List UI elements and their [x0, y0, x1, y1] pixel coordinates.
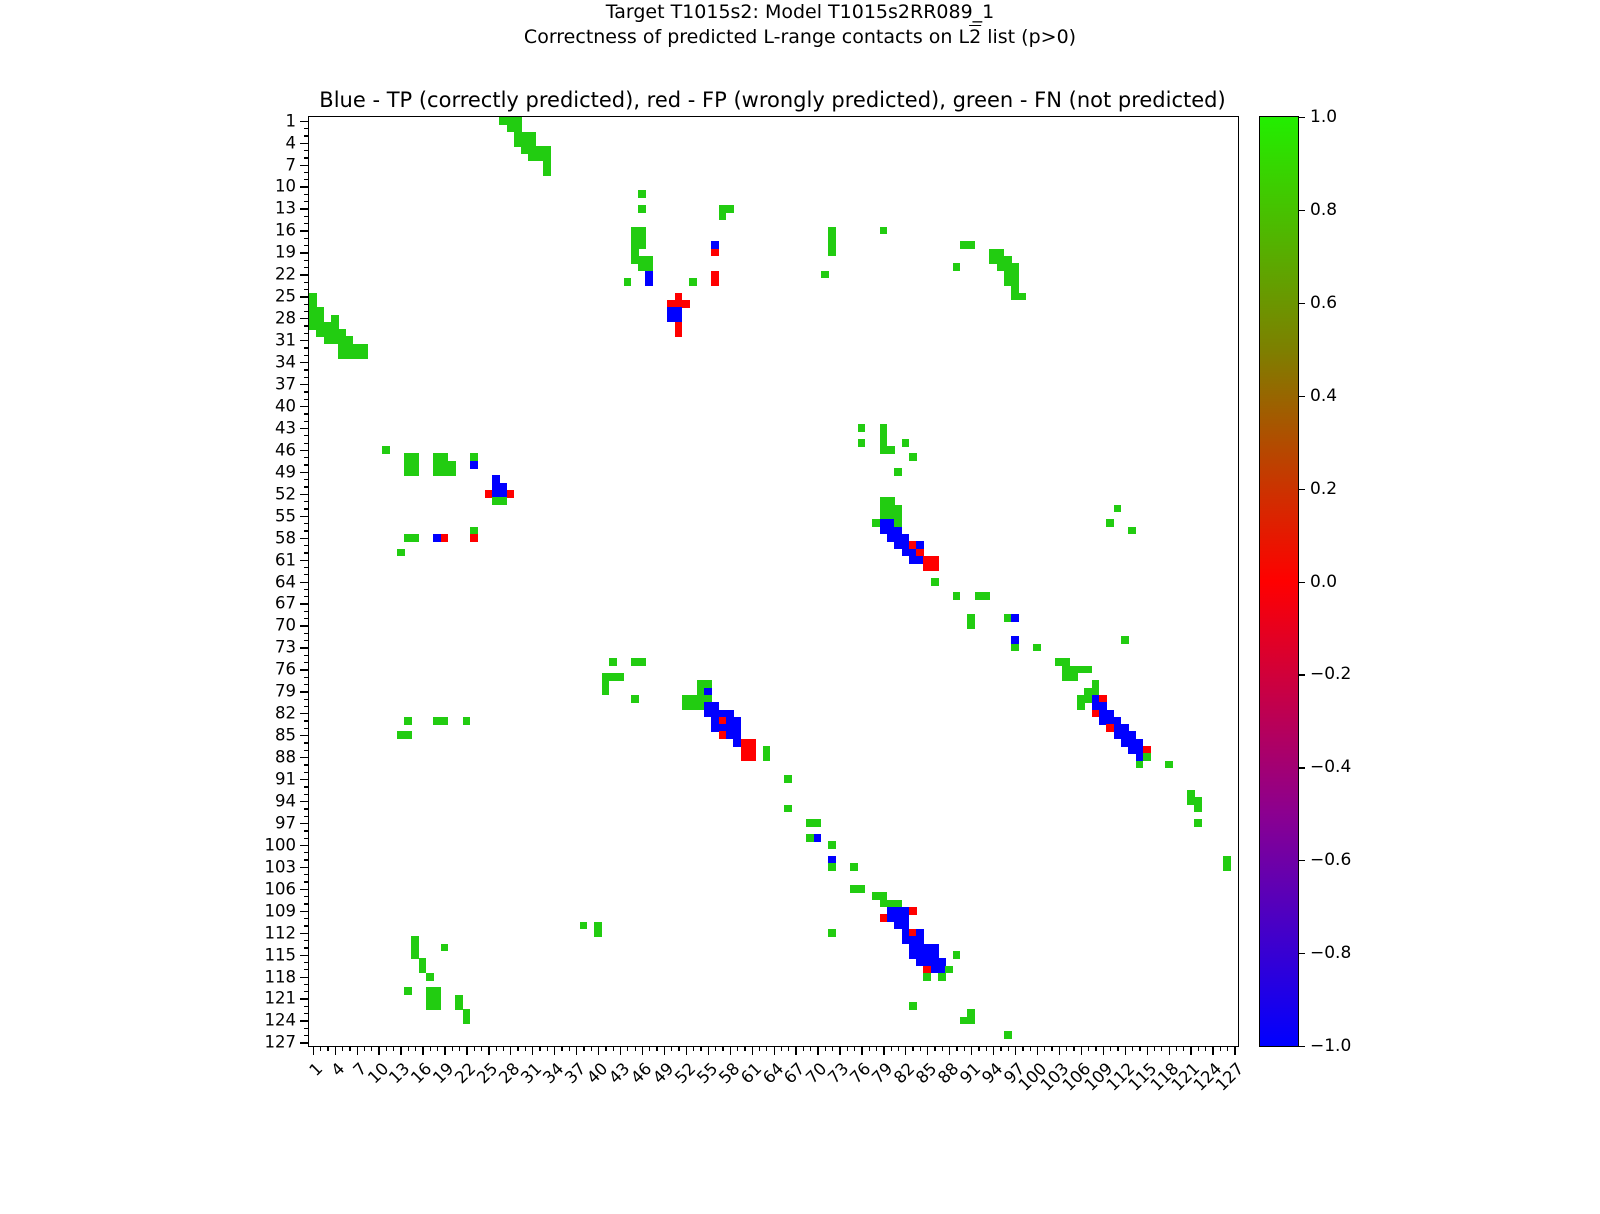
y-tick	[304, 589, 309, 590]
y-tick	[304, 699, 309, 700]
x-tick	[364, 1046, 365, 1051]
y-tick	[300, 186, 309, 187]
y-tick	[304, 355, 309, 356]
y-tick	[304, 377, 309, 378]
y-tick	[300, 735, 309, 736]
contact-cell-fn	[638, 205, 646, 213]
y-tick	[300, 889, 309, 890]
x-tick	[1161, 1046, 1162, 1051]
x-tick	[430, 1046, 431, 1051]
y-tick	[300, 713, 309, 714]
x-tick	[978, 1046, 979, 1051]
x-tick	[759, 1046, 760, 1051]
y-tick	[300, 867, 309, 868]
y-tick	[300, 647, 309, 648]
x-tick	[744, 1046, 745, 1051]
y-tick	[304, 135, 309, 136]
contact-cell-fn	[441, 944, 449, 952]
y-tick	[300, 428, 309, 429]
contact-cell-fn	[631, 695, 639, 703]
y-tick	[304, 794, 309, 795]
contact-cell-fn	[1136, 761, 1144, 769]
x-tick	[444, 1046, 445, 1055]
x-tick	[1015, 1046, 1016, 1055]
x-tick	[627, 1046, 628, 1051]
y-tick	[304, 838, 309, 839]
y-tick	[300, 823, 309, 824]
contact-map-plot-area[interactable]: 1471013161922252831343740434649525558616…	[308, 116, 1239, 1047]
y-tick	[300, 582, 309, 583]
contact-cell-fn	[1070, 673, 1078, 681]
y-tick-label: 7	[286, 155, 297, 174]
x-tick	[869, 1046, 870, 1051]
contact-cell-fn	[850, 863, 858, 871]
x-tick	[722, 1046, 723, 1051]
suptitle-line-2: Correctness of predicted L-range contact…	[0, 25, 1600, 50]
y-tick-label: 10	[275, 177, 296, 196]
x-tick	[993, 1046, 994, 1055]
x-tick	[517, 1046, 518, 1051]
contact-cell-fn	[719, 212, 727, 220]
contact-cell-fp	[441, 534, 449, 542]
contact-cell-fn	[828, 249, 836, 257]
x-tick	[503, 1046, 504, 1051]
contact-cell-fn	[499, 497, 507, 505]
x-tick	[774, 1046, 775, 1055]
y-tick	[304, 545, 309, 546]
y-tick	[304, 304, 309, 305]
x-tick	[459, 1046, 460, 1051]
y-tick	[304, 925, 309, 926]
contact-cell-fn	[945, 966, 953, 974]
contact-cell-fn	[433, 1002, 441, 1010]
x-tick	[1000, 1046, 1001, 1051]
y-tick	[304, 413, 309, 414]
x-tick	[605, 1046, 606, 1051]
contact-cell-fn	[1077, 702, 1085, 710]
x-tick	[320, 1046, 321, 1051]
y-tick	[304, 179, 309, 180]
y-tick	[300, 933, 309, 934]
x-tick	[803, 1046, 804, 1051]
y-tick	[300, 625, 309, 626]
contact-cell-fn	[616, 673, 624, 681]
y-tick	[300, 274, 309, 275]
x-tick	[547, 1046, 548, 1051]
x-tick	[649, 1046, 650, 1051]
colorbar-tick	[1298, 582, 1305, 583]
x-tick	[891, 1046, 892, 1051]
contact-cell-fp	[470, 534, 478, 542]
y-tick-label: 67	[275, 594, 296, 613]
y-tick	[304, 750, 309, 751]
y-tick	[300, 1020, 309, 1021]
contact-cell-tp	[814, 834, 822, 842]
x-tick	[956, 1046, 957, 1051]
contact-cell-fn	[463, 717, 471, 725]
x-tick	[1176, 1046, 1177, 1051]
y-tick-label: 37	[275, 374, 296, 393]
y-tick	[300, 911, 309, 912]
x-tick	[635, 1046, 636, 1051]
contact-cell-fn	[1084, 666, 1092, 674]
contact-cell-fn	[382, 446, 390, 454]
contact-cell-fn	[967, 622, 975, 630]
y-tick-label: 100	[265, 835, 297, 854]
y-tick	[304, 808, 309, 809]
x-tick	[795, 1046, 796, 1055]
y-tick	[300, 165, 309, 166]
contact-cell-fn	[689, 278, 697, 286]
contact-cell-fn	[828, 929, 836, 937]
x-tick	[927, 1046, 928, 1055]
contact-cell-fp	[711, 278, 719, 286]
contact-cell-fn	[982, 592, 990, 600]
x-tick	[415, 1046, 416, 1051]
x-tick	[539, 1046, 540, 1051]
y-tick	[304, 830, 309, 831]
x-tick	[1183, 1046, 1184, 1051]
y-tick-label: 97	[275, 813, 296, 832]
y-tick	[304, 421, 309, 422]
y-tick	[304, 194, 309, 195]
contact-cell-fn	[594, 929, 602, 937]
y-tick	[304, 289, 309, 290]
contact-cell-fn	[1114, 505, 1122, 513]
contact-cell-fn	[894, 468, 902, 476]
y-tick-label: 46	[275, 440, 296, 459]
colorbar-tick-label: 0.0	[1310, 572, 1337, 592]
y-tick-label: 64	[275, 572, 296, 591]
y-tick	[304, 1028, 309, 1029]
y-tick	[304, 640, 309, 641]
y-tick	[304, 940, 309, 941]
x-tick	[942, 1046, 943, 1051]
y-tick	[304, 216, 309, 217]
x-tick	[342, 1046, 343, 1051]
x-tick	[313, 1046, 314, 1055]
y-tick	[304, 772, 309, 773]
x-tick	[656, 1046, 657, 1051]
x-tick	[898, 1046, 899, 1051]
y-tick	[304, 618, 309, 619]
x-tick	[620, 1046, 621, 1055]
y-tick	[304, 245, 309, 246]
x-tick	[1132, 1046, 1133, 1051]
y-tick	[304, 201, 309, 202]
y-tick	[300, 406, 309, 407]
x-tick	[1117, 1046, 1118, 1051]
x-tick	[598, 1046, 599, 1055]
y-tick	[304, 1035, 309, 1036]
y-tick	[304, 223, 309, 224]
x-tick	[437, 1046, 438, 1051]
colorbar-tick	[1298, 674, 1305, 675]
y-tick	[304, 508, 309, 509]
y-tick	[300, 955, 309, 956]
colorbar-tick	[1298, 767, 1305, 768]
y-tick	[304, 282, 309, 283]
y-tick-label: 55	[275, 506, 296, 525]
x-tick	[700, 1046, 701, 1051]
contact-cell-fn	[814, 819, 822, 827]
x-tick	[1205, 1046, 1206, 1051]
x-tick	[371, 1046, 372, 1051]
x-tick	[905, 1046, 906, 1055]
y-tick	[304, 852, 309, 853]
y-tick	[304, 311, 309, 312]
x-tick	[1212, 1046, 1213, 1055]
x-tick	[825, 1046, 826, 1051]
contact-cell-fn	[360, 351, 368, 359]
y-tick-label: 76	[275, 660, 296, 679]
x-tick	[1234, 1046, 1235, 1055]
y-tick	[304, 464, 309, 465]
contact-cell-fn	[1223, 863, 1231, 871]
y-tick	[304, 443, 309, 444]
contact-cell-fn	[1194, 819, 1202, 827]
y-tick	[300, 845, 309, 846]
colorbar-gradient	[1260, 117, 1298, 1046]
y-tick	[300, 757, 309, 758]
contact-cell-fn	[1128, 527, 1136, 535]
x-tick	[1030, 1046, 1031, 1051]
y-tick-label: 118	[265, 967, 297, 986]
x-tick	[1059, 1046, 1060, 1055]
y-tick	[304, 786, 309, 787]
y-tick	[304, 611, 309, 612]
x-tick	[481, 1046, 482, 1051]
y-tick	[304, 596, 309, 597]
y-tick	[304, 325, 309, 326]
y-tick	[300, 384, 309, 385]
y-tick	[304, 655, 309, 656]
y-tick	[304, 874, 309, 875]
contact-cell-fn	[1165, 761, 1173, 769]
y-tick	[304, 742, 309, 743]
x-tick	[817, 1046, 818, 1055]
y-tick	[304, 260, 309, 261]
x-tick	[664, 1046, 665, 1055]
contact-cell-fn	[784, 805, 792, 813]
y-tick	[300, 560, 309, 561]
x-tick	[525, 1046, 526, 1051]
contact-cell-fn	[441, 717, 449, 725]
y-tick	[304, 859, 309, 860]
contact-cell-tp	[470, 461, 478, 469]
y-tick-label: 25	[275, 287, 296, 306]
x-tick	[912, 1046, 913, 1051]
y-tick	[300, 362, 309, 363]
y-tick	[300, 669, 309, 670]
x-tick	[839, 1046, 840, 1055]
x-tick	[1073, 1046, 1074, 1051]
y-tick	[300, 208, 309, 209]
y-tick-label: 88	[275, 748, 296, 767]
contact-cell-fp	[675, 329, 683, 337]
colorbar-tick-label: −0.6	[1310, 850, 1351, 870]
y-tick-label: 112	[265, 923, 297, 942]
y-tick-label: 16	[275, 221, 296, 240]
contact-cell-fn	[624, 278, 632, 286]
contact-map-figure: Target T1015s2: Model T1015s2RR089_1 Cor…	[0, 0, 1600, 1200]
x-tick	[335, 1046, 336, 1055]
y-tick	[304, 677, 309, 678]
colorbar-tick	[1298, 210, 1305, 211]
contact-cell-fn	[426, 973, 434, 981]
x-tick	[781, 1046, 782, 1051]
y-tick-label: 13	[275, 199, 296, 218]
y-tick-label: 124	[265, 1011, 297, 1030]
y-tick	[300, 977, 309, 978]
y-tick	[304, 991, 309, 992]
x-tick	[876, 1046, 877, 1051]
contact-cell-fn	[953, 263, 961, 271]
x-tick	[1008, 1046, 1009, 1051]
contact-cell-fn	[923, 973, 931, 981]
contact-cell-fn	[1033, 644, 1041, 652]
x-tick	[986, 1046, 987, 1051]
x-tick	[422, 1046, 423, 1055]
x-tick	[474, 1046, 475, 1051]
contact-cell-fn	[858, 439, 866, 447]
y-tick	[300, 318, 309, 319]
suptitle-line-2-post: list (p>0)	[981, 26, 1076, 48]
contact-cell-fn	[1106, 519, 1114, 527]
x-tick	[1051, 1046, 1052, 1051]
colorbar[interactable]: 1.00.80.60.40.20.0−0.2−0.4−0.6−0.8−1.0	[1259, 116, 1299, 1047]
y-tick	[304, 501, 309, 502]
y-tick-label: 61	[275, 550, 296, 569]
contact-cell-fn	[880, 227, 888, 235]
y-tick	[304, 918, 309, 919]
y-tick	[304, 1013, 309, 1014]
axes-title-legend: Blue - TP (correctly predicted), red - F…	[308, 88, 1237, 112]
x-tick	[496, 1046, 497, 1051]
x-tick	[583, 1046, 584, 1051]
suptitle-line-1: Target T1015s2: Model T1015s2RR089_1	[0, 0, 1600, 25]
contact-cell-fn	[726, 205, 734, 213]
y-tick-label: 4	[286, 133, 297, 152]
x-tick	[971, 1046, 972, 1055]
y-tick	[304, 896, 309, 897]
y-tick-label: 22	[275, 265, 296, 284]
x-tick	[766, 1046, 767, 1051]
y-tick	[300, 691, 309, 692]
x-tick	[847, 1046, 848, 1051]
y-tick-label: 94	[275, 791, 296, 810]
y-tick	[304, 333, 309, 334]
contact-cell-fn	[397, 549, 405, 557]
contact-cell-fn	[543, 168, 551, 176]
contact-cell-fp	[931, 563, 939, 571]
contact-cell-fn	[902, 439, 910, 447]
y-tick-label: 91	[275, 770, 296, 789]
contact-cell-fn	[411, 534, 419, 542]
y-tick	[300, 603, 309, 604]
y-tick	[304, 969, 309, 970]
y-tick	[304, 172, 309, 173]
y-tick-label: 28	[275, 309, 296, 328]
x-tick	[1154, 1046, 1155, 1051]
y-tick	[304, 347, 309, 348]
contact-cell-fn	[784, 775, 792, 783]
x-tick	[488, 1046, 489, 1055]
y-tick	[304, 728, 309, 729]
y-tick-label: 82	[275, 704, 296, 723]
contact-cell-fp	[682, 300, 690, 308]
x-tick	[1066, 1046, 1067, 1051]
colorbar-tick	[1298, 489, 1305, 490]
x-tick	[788, 1046, 789, 1051]
x-tick	[671, 1046, 672, 1051]
y-tick	[304, 486, 309, 487]
contact-cell-tp	[1011, 614, 1019, 622]
x-tick	[400, 1046, 401, 1055]
y-tick	[304, 479, 309, 480]
x-tick	[1103, 1046, 1104, 1055]
y-tick-label: 73	[275, 638, 296, 657]
y-tick	[304, 662, 309, 663]
y-tick-label: 121	[265, 989, 297, 1008]
y-tick	[304, 150, 309, 151]
contact-cell-fn	[1004, 1031, 1012, 1039]
contact-cell-fn	[821, 271, 829, 279]
contact-cell-fn	[858, 885, 866, 893]
x-tick	[1037, 1046, 1038, 1055]
contact-cell-fp	[748, 753, 756, 761]
contact-cell-fp	[711, 249, 719, 257]
x-tick	[613, 1046, 614, 1051]
y-tick-label: 109	[265, 901, 297, 920]
colorbar-tick-label: 0.8	[1310, 200, 1337, 220]
contact-cell-fn	[858, 424, 866, 432]
x-tick	[569, 1046, 570, 1051]
contact-cell-fn	[1194, 805, 1202, 813]
y-tick	[300, 1042, 309, 1043]
y-tick	[304, 399, 309, 400]
contact-cell-fn	[1121, 636, 1129, 644]
y-tick	[304, 706, 309, 707]
y-tick-label: 79	[275, 682, 296, 701]
y-tick	[300, 779, 309, 780]
y-tick	[304, 684, 309, 685]
y-tick-label: 58	[275, 528, 296, 547]
y-tick	[300, 450, 309, 451]
y-tick-label: 127	[265, 1033, 297, 1052]
x-tick	[357, 1046, 358, 1055]
y-tick	[300, 494, 309, 495]
y-tick	[304, 903, 309, 904]
y-tick-label: 115	[265, 945, 297, 964]
figure-suptitle: Target T1015s2: Model T1015s2RR089_1 Cor…	[0, 0, 1600, 50]
x-tick	[678, 1046, 679, 1051]
x-tick	[1198, 1046, 1199, 1051]
y-tick	[304, 128, 309, 129]
y-tick	[304, 523, 309, 524]
y-tick	[304, 984, 309, 985]
y-tick	[304, 1006, 309, 1007]
contact-cell-fn	[404, 731, 412, 739]
contact-cell-fn	[909, 453, 917, 461]
y-tick	[300, 296, 309, 297]
x-tick	[730, 1046, 731, 1055]
y-tick	[304, 369, 309, 370]
y-tick	[304, 567, 309, 568]
y-tick	[304, 457, 309, 458]
y-tick-label: 70	[275, 616, 296, 635]
colorbar-tick-label: 0.2	[1310, 479, 1337, 499]
